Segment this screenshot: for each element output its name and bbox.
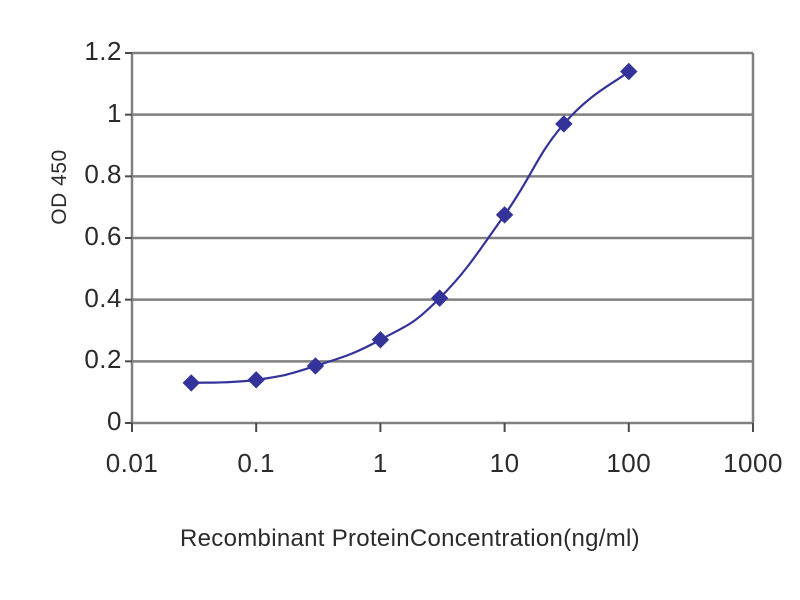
y-tick-label: 1.2: [52, 36, 122, 67]
elisa-standard-curve-chart: OD 450 00.20.40.60.811.2 0.010.111010010…: [0, 0, 800, 600]
y-tick-label: 0.6: [52, 221, 122, 252]
x-axis-title: Recombinant ProteinConcentration(ng/ml): [60, 525, 760, 553]
data-point-marker[interactable]: [372, 332, 388, 348]
x-tick-label: 0.01: [72, 448, 192, 479]
y-tick-label: 0.2: [52, 344, 122, 375]
data-point-marker[interactable]: [248, 372, 264, 388]
x-tick-label: 100: [569, 448, 689, 479]
x-tick-label: 0.1: [196, 448, 316, 479]
y-tick-label: 0.8: [52, 159, 122, 190]
y-tick-label: 1: [52, 98, 122, 129]
x-tick-label: 1: [320, 448, 440, 479]
y-tick-label: 0.4: [52, 283, 122, 314]
x-tick-label: 1000: [693, 448, 800, 479]
y-tick-label: 0: [52, 406, 122, 437]
data-point-marker[interactable]: [621, 64, 637, 80]
data-point-marker[interactable]: [183, 375, 199, 391]
x-tick-label: 10: [445, 448, 565, 479]
data-point-marker[interactable]: [497, 207, 513, 223]
